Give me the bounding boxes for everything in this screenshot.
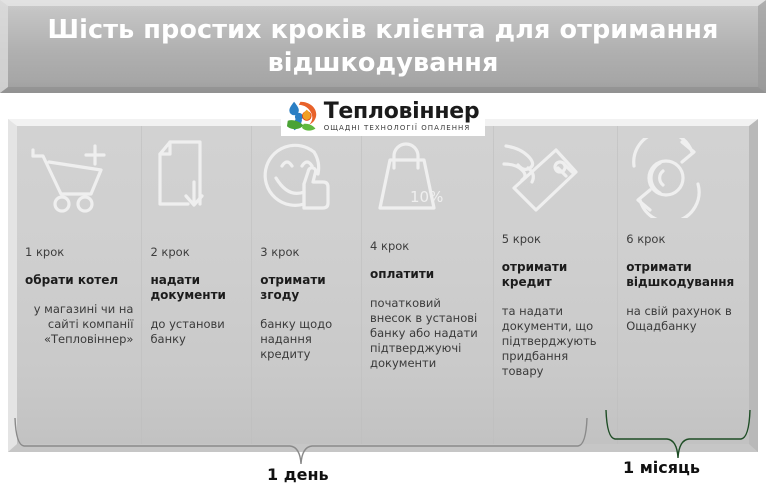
steps-panel: 1 крок обрати котел у магазині чи на сай…	[8, 119, 758, 452]
step-title: оплатити	[370, 267, 485, 282]
brace-label-one-month: 1 місяць	[623, 458, 700, 477]
step-number: 1 крок	[25, 246, 133, 259]
step-title: отримати згоду	[260, 273, 353, 303]
step-title: отримати кредит	[502, 260, 609, 290]
step-description: у магазині чи на сайті компанії «Теплові…	[25, 302, 133, 347]
smiley-thumbsup-icon	[260, 126, 353, 224]
step-number: 5 крок	[502, 233, 609, 246]
refresh-coin-icon	[626, 126, 741, 224]
step-description: початковий внесок в установі банку або н…	[370, 296, 485, 371]
step-description: на свій рахунок в Ощадбанку	[626, 304, 741, 334]
header-banner: Шість простих кроків клієнта для отриман…	[0, 0, 766, 93]
shopping-bag-10-percent-icon: 10%	[370, 126, 485, 224]
document-download-icon	[150, 126, 243, 224]
step-title: обрати котел	[25, 273, 133, 288]
step-column-1: 1 крок обрати котел у магазині чи на сай…	[17, 126, 141, 444]
steps-columns: 1 крок обрати котел у магазині чи на сай…	[17, 126, 749, 444]
step-description: та надати документи, що підтверджують пр…	[502, 304, 609, 379]
step-column-2: 2 крок надати документи до установи банк…	[141, 126, 251, 444]
step-description: банку щодо надання кредиту	[260, 317, 353, 362]
hand-holding-card-icon	[502, 126, 609, 224]
step-description: до установи банку	[150, 317, 243, 347]
cart-plus-icon	[25, 126, 133, 224]
step-column-4: 10% 4 крок оплатити початковий внесок в …	[361, 126, 493, 444]
step-column-6: 6 крок отримати відшкодування на свій ра…	[617, 126, 749, 444]
step-number: 3 крок	[260, 246, 353, 259]
step-column-3: 3 крок отримати згоду банку щодо надання…	[251, 126, 361, 444]
page-title: Шість простих кроків клієнта для отриман…	[33, 14, 733, 79]
step-column-5: 5 крок отримати кредит та надати докумен…	[493, 126, 617, 444]
bag-percent-label: 10%	[410, 188, 443, 206]
step-title: надати документи	[150, 273, 243, 303]
step-title: отримати відшкодування	[626, 260, 741, 290]
brace-label-one-day: 1 день	[267, 465, 329, 484]
step-number: 4 крок	[370, 240, 485, 253]
step-number: 2 крок	[150, 246, 243, 259]
step-number: 6 крок	[626, 233, 741, 246]
